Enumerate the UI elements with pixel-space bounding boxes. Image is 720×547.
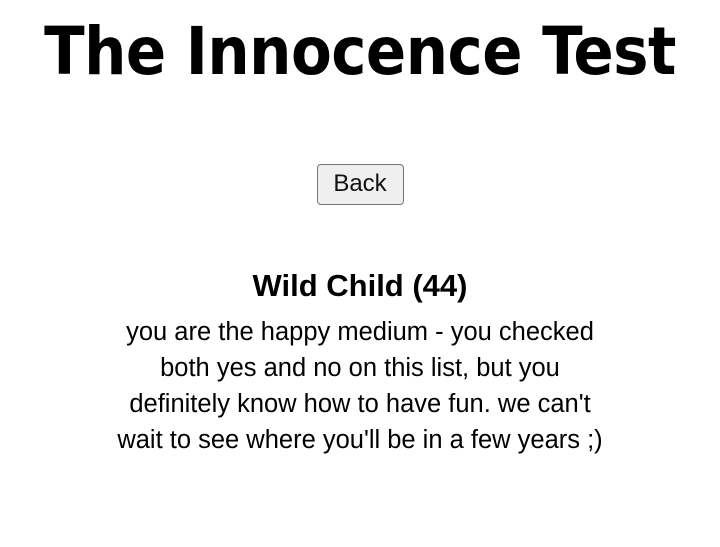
result-description: you are the happy medium - you checked b…	[117, 314, 603, 458]
navigation-row: Back	[0, 164, 720, 205]
back-button[interactable]: Back	[317, 164, 404, 205]
result-block: Wild Child (44) you are the happy medium…	[0, 266, 720, 458]
page-title: The Innocence Test	[0, 13, 720, 91]
innocence-test-result-page: The Innocence Test Back Wild Child (44) …	[0, 0, 720, 547]
result-heading: Wild Child (44)	[0, 266, 720, 306]
